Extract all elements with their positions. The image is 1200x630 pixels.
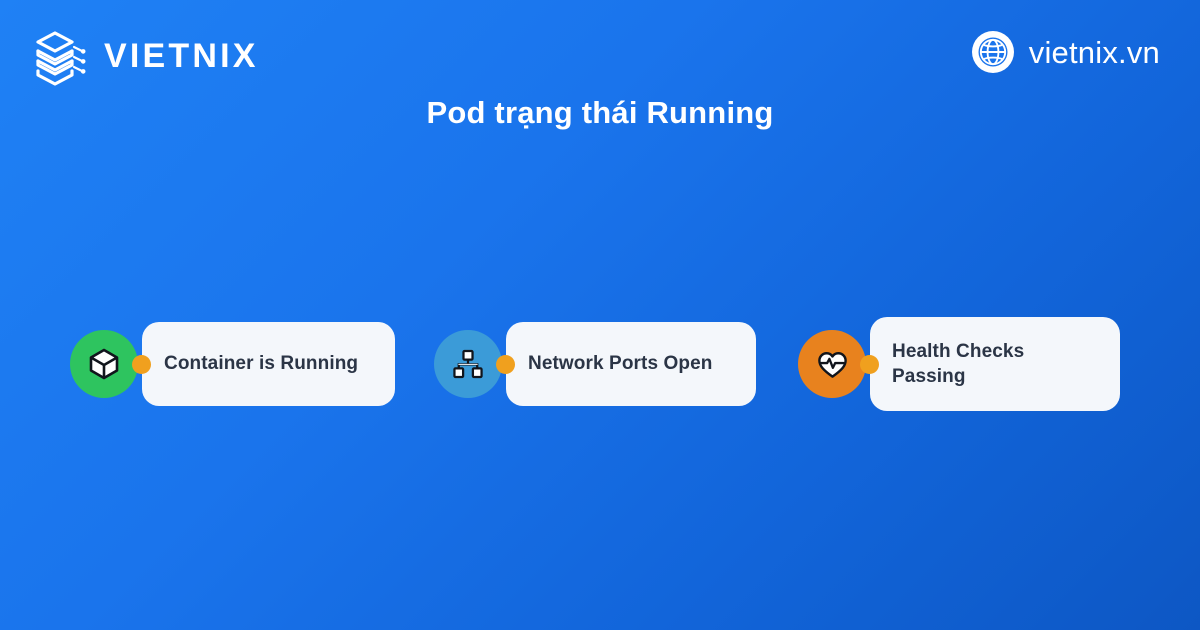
flow-card-1[interactable]: Container is Running bbox=[142, 322, 395, 406]
flow-card-label-1: Container is Running bbox=[164, 351, 358, 376]
brand-name: VIETNIX bbox=[104, 39, 259, 73]
cube-icon bbox=[87, 347, 121, 381]
website-url-text: vietnix.vn bbox=[1029, 37, 1160, 68]
node-icon-badge-1 bbox=[70, 330, 138, 398]
node-icon-badge-2 bbox=[434, 330, 502, 398]
stacked-layers-icon bbox=[28, 26, 90, 86]
flow-card-label-3: Health Checks Passing bbox=[892, 339, 1024, 389]
flow-card-label-2: Network Ports Open bbox=[528, 351, 712, 376]
globe-icon bbox=[971, 30, 1015, 74]
connector-dot-2 bbox=[496, 355, 515, 374]
infographic-canvas: VIETNIX vietnix.vn Pod trạng thái Runnin… bbox=[0, 0, 1200, 630]
network-sitemap-icon bbox=[452, 348, 484, 380]
flow-diagram: Container is Running bbox=[0, 313, 1200, 415]
node-icon-badge-3 bbox=[798, 330, 866, 398]
flow-node-container-running[interactable]: Container is Running bbox=[70, 313, 395, 415]
page-title: Pod trạng thái Running bbox=[0, 95, 1200, 131]
flow-node-network-ports[interactable]: Network Ports Open bbox=[434, 313, 756, 415]
flow-node-health-checks[interactable]: Health Checks Passing bbox=[798, 313, 1120, 415]
connector-dot-1 bbox=[132, 355, 151, 374]
flow-card-3[interactable]: Health Checks Passing bbox=[870, 317, 1120, 411]
connector-dot-3 bbox=[860, 355, 879, 374]
brand-logo: VIETNIX bbox=[28, 26, 259, 86]
heartbeat-icon bbox=[816, 348, 849, 381]
website-link[interactable]: vietnix.vn bbox=[971, 30, 1160, 74]
flow-card-2[interactable]: Network Ports Open bbox=[506, 322, 756, 406]
